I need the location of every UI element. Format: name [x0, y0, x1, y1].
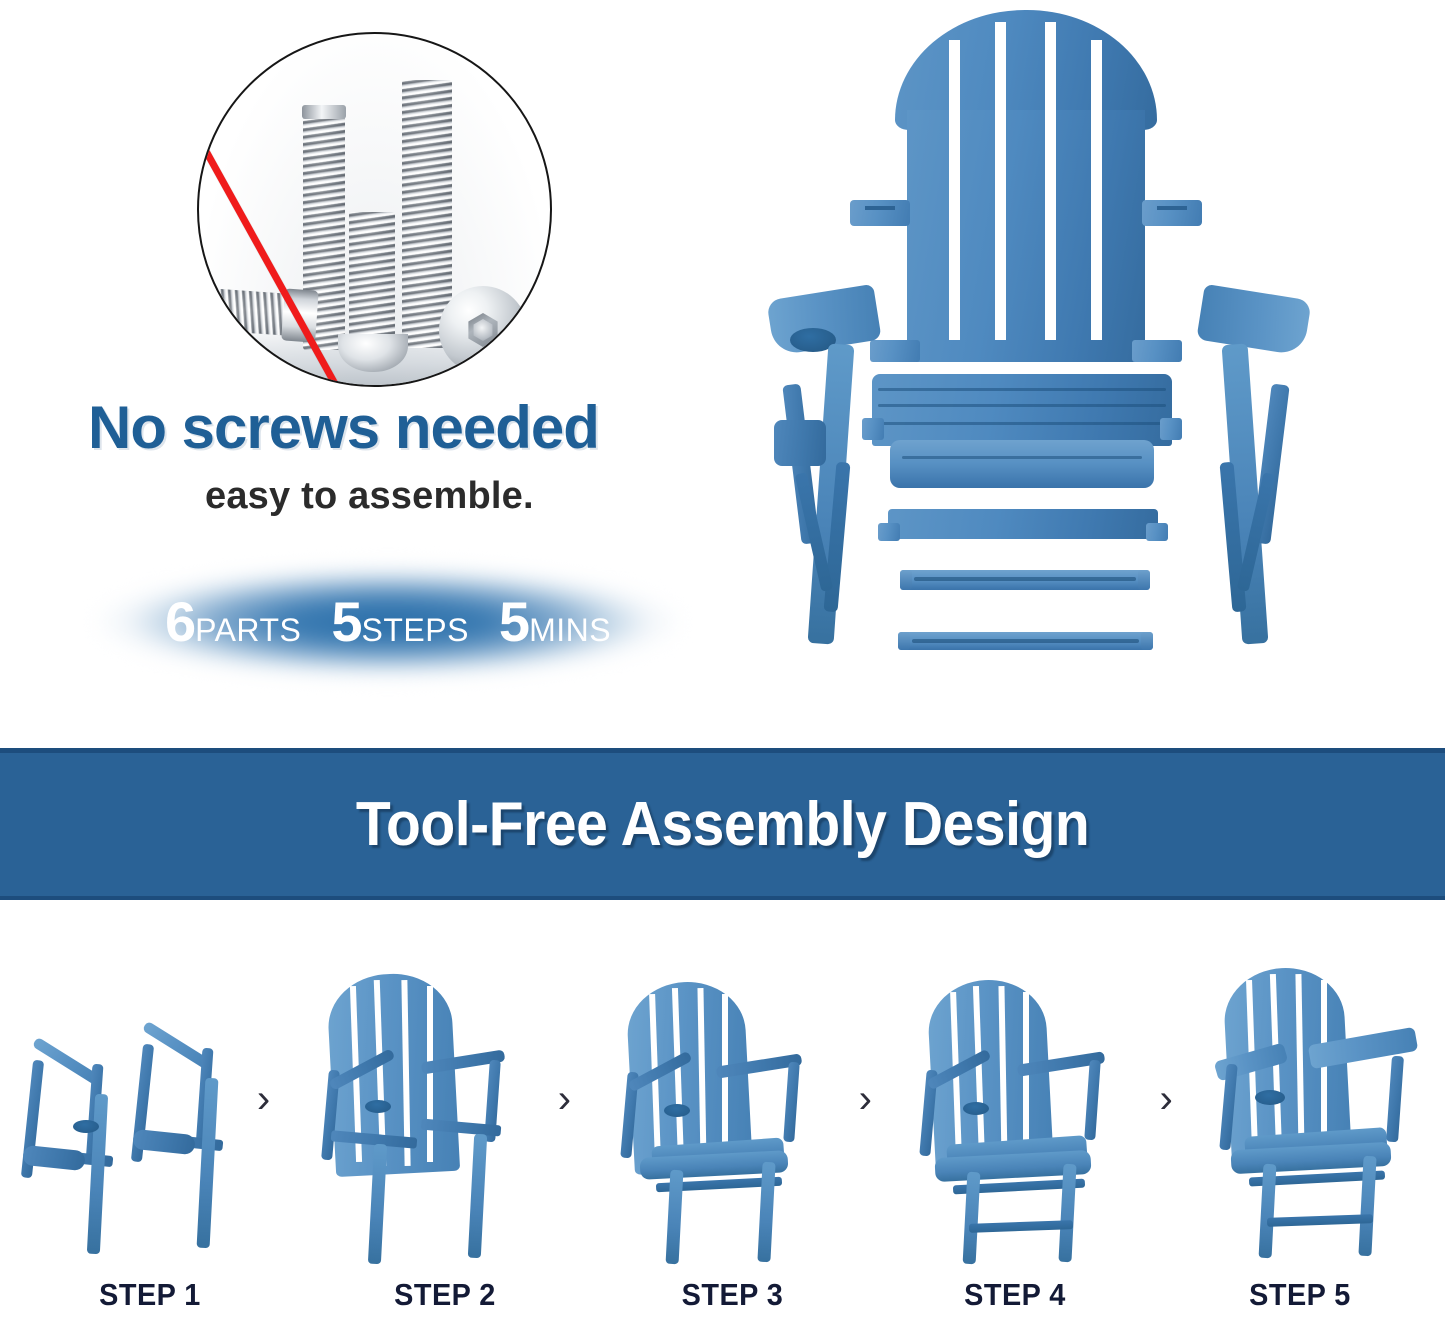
- step-illustration-5: [1188, 934, 1445, 1264]
- page-title: No screws needed: [88, 398, 708, 458]
- top-section: No screws needed easy to assemble. 6 PAR…: [0, 0, 1445, 748]
- no-screws-photo: [197, 32, 552, 387]
- step-illustration-2: [286, 934, 543, 1264]
- side-frame-right: [1190, 292, 1300, 670]
- stats-badge: 6 PARTS 5 STEPS 5 MINS: [78, 556, 698, 688]
- page-subtitle: easy to assemble.: [205, 477, 725, 515]
- stat-mins: 5 MINS: [499, 594, 611, 650]
- step-separator-4-5: ›: [1144, 934, 1188, 1264]
- stats-row: 6 PARTS 5 STEPS 5 MINS: [78, 556, 698, 688]
- step-illustration-4: [887, 934, 1144, 1264]
- stat-mins-unit: MINS: [529, 614, 611, 646]
- stat-parts-unit: PARTS: [195, 614, 301, 646]
- banner-title: Tool-Free Assembly Design: [356, 794, 1089, 856]
- step-label-2: STEP 2: [310, 1266, 580, 1324]
- socket-head-bolt: [439, 286, 527, 374]
- stat-mins-number: 5: [499, 594, 529, 650]
- stat-steps: 5 STEPS: [331, 594, 469, 650]
- stretcher-bar-upper: [900, 570, 1150, 590]
- step-illustration-1: [0, 934, 241, 1264]
- step-label-4: STEP 4: [885, 1266, 1145, 1324]
- step-illustration-3: [586, 934, 843, 1264]
- step-separator-3-4: ›: [843, 934, 887, 1264]
- step-separator-1-2: ›: [241, 934, 285, 1264]
- stat-parts-number: 6: [165, 594, 195, 650]
- section-banner: Tool-Free Assembly Design: [0, 748, 1445, 900]
- step-labels-row: STEP 1 STEP 2 STEP 3 STEP 4 STEP 5: [0, 1266, 1445, 1324]
- stretcher-bar-lower: [898, 632, 1153, 650]
- steps-illustrations-row: › ›: [0, 904, 1445, 1264]
- step-separator-2-3: ›: [542, 934, 586, 1264]
- stat-steps-number: 5: [331, 594, 361, 650]
- step-label-5: STEP 5: [1165, 1266, 1435, 1324]
- stat-steps-unit: STEPS: [361, 614, 468, 646]
- front-apron: [878, 505, 1168, 547]
- seat-panel: [872, 374, 1172, 509]
- chair-back-panel: [895, 10, 1157, 362]
- step-label-3: STEP 3: [600, 1266, 865, 1324]
- bolt-short-center: [349, 212, 395, 352]
- stat-parts: 6 PARTS: [165, 594, 301, 650]
- assembly-steps-section: › ›: [0, 904, 1445, 1328]
- step-label-1: STEP 1: [11, 1266, 290, 1324]
- exploded-parts-diagram: [760, 0, 1400, 720]
